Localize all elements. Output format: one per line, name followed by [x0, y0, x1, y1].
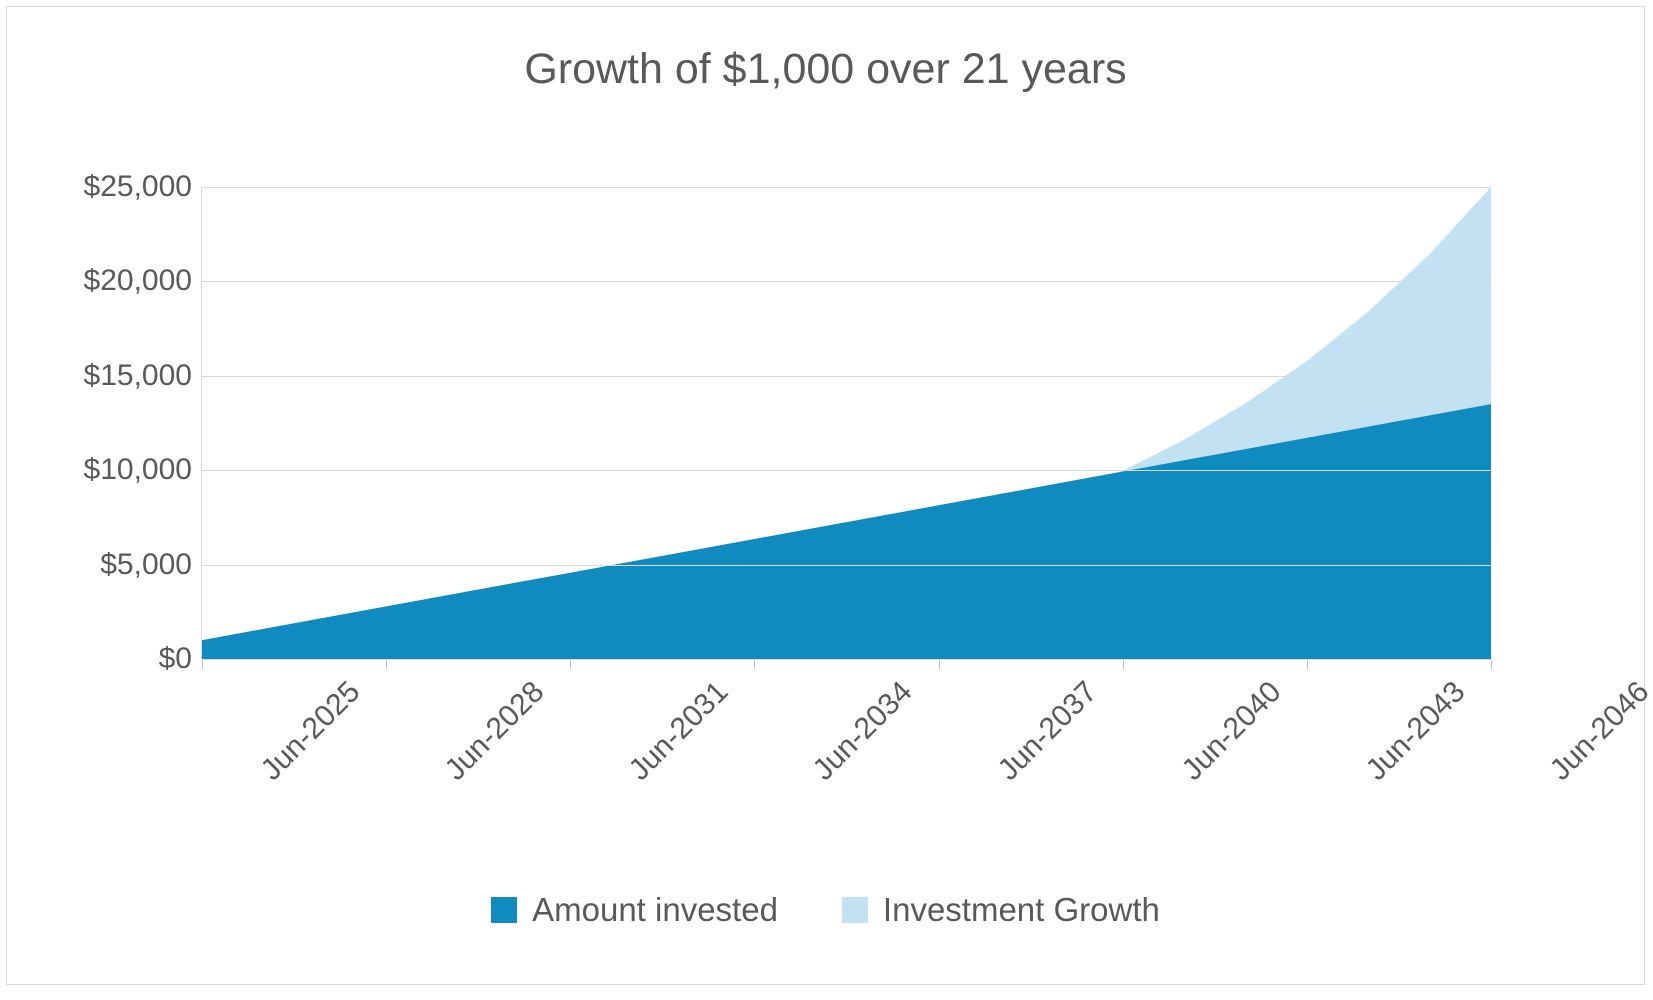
x-axis-tick-label: Jun-2025	[255, 675, 368, 788]
x-axis-tick	[939, 660, 940, 669]
x-axis-tick	[202, 660, 203, 669]
gridline	[202, 470, 1491, 471]
y-axis-tick-label: $20,000	[22, 264, 192, 298]
x-axis-tick	[570, 660, 571, 669]
x-axis-tick-label: Jun-2037	[991, 675, 1104, 788]
legend-label: Amount invested	[532, 893, 778, 926]
x-axis-tick-label: Jun-2040	[1175, 675, 1288, 788]
gridline	[202, 281, 1491, 282]
y-axis-labels: $0$5,000$10,000$15,000$20,000$25,000	[17, 7, 192, 1000]
x-axis-tick	[1123, 660, 1124, 669]
x-axis-tick	[1491, 660, 1492, 669]
x-axis-tick-label: Jun-2034	[807, 675, 920, 788]
legend-swatch-icon	[491, 897, 517, 923]
x-axis-tick-label: Jun-2031	[623, 675, 736, 788]
x-axis-tick-label: Jun-2046	[1544, 675, 1653, 788]
plot-area	[202, 187, 1491, 659]
legend-item[interactable]: Investment Growth	[842, 893, 1160, 926]
x-axis-tick-label: Jun-2043	[1359, 675, 1472, 788]
legend-swatch-icon	[842, 897, 868, 923]
y-axis-tick-label: $25,000	[22, 170, 192, 204]
x-axis-tick	[754, 660, 755, 669]
chart-title: Growth of $1,000 over 21 years	[7, 45, 1644, 94]
x-axis-tick	[386, 660, 387, 669]
legend-label: Investment Growth	[883, 893, 1160, 926]
gridline	[202, 187, 1491, 188]
stacked-area-series	[202, 187, 1491, 659]
chart-container: Growth of $1,000 over 21 years $0$5,000$…	[6, 6, 1645, 985]
y-axis-tick-label: $0	[22, 642, 192, 676]
area-amount-invested	[202, 404, 1491, 659]
x-axis-ticks	[202, 660, 1491, 672]
x-axis-labels: Jun-2025Jun-2028Jun-2031Jun-2034Jun-2037…	[202, 675, 1491, 825]
legend-item[interactable]: Amount invested	[491, 893, 778, 926]
gridline	[202, 565, 1491, 566]
y-axis-tick-label: $15,000	[22, 359, 192, 393]
chart-legend: Amount investedInvestment Growth	[7, 893, 1644, 926]
x-axis-tick	[1307, 660, 1308, 669]
x-axis-tick-label: Jun-2028	[439, 675, 552, 788]
y-axis-tick-label: $5,000	[22, 548, 192, 582]
gridline	[202, 376, 1491, 377]
y-axis-tick-label: $10,000	[22, 453, 192, 487]
